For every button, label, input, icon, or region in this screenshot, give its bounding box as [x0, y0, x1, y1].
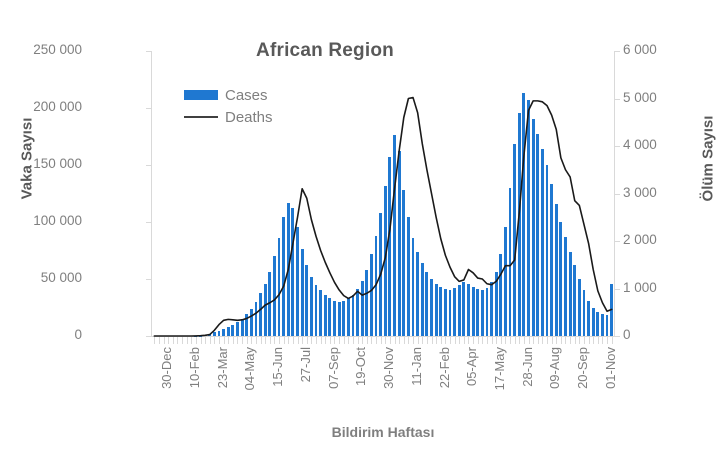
deaths-line [154, 98, 611, 336]
x-axis-tick-label: 27-Jul [298, 347, 313, 382]
y-axis-left-tick [146, 108, 151, 109]
x-axis-tick [519, 337, 520, 344]
x-axis-tick [210, 337, 211, 344]
legend-item-deaths: Deaths [184, 106, 273, 128]
x-axis-tick [538, 337, 539, 344]
y-axis-left-tick [146, 336, 151, 337]
x-axis-tick [164, 337, 165, 344]
x-axis-tick [187, 337, 188, 344]
x-axis-tick [478, 337, 479, 344]
x-axis-tick [385, 337, 386, 344]
x-axis-tick [561, 337, 562, 344]
x-axis-tick [261, 337, 262, 344]
y-axis-right-tick [615, 336, 620, 337]
x-axis-tick [233, 337, 234, 344]
x-axis-tick-label: 11-Jan [409, 347, 424, 386]
x-axis-tick [408, 337, 409, 344]
x-axis-tick [362, 337, 363, 344]
y-axis-right-tick [615, 99, 620, 100]
deaths-swatch-icon [184, 116, 218, 118]
x-axis-tick [529, 337, 530, 344]
x-axis-tick [450, 337, 451, 344]
x-axis-tick [399, 337, 400, 344]
x-axis-tick [311, 337, 312, 344]
x-axis-tick-label: 17-May [492, 347, 507, 390]
y-axis-right-tick [615, 289, 620, 290]
x-axis-tick [376, 337, 377, 344]
x-axis-tick-label: 09-Aug [547, 347, 562, 389]
x-axis-tick [505, 337, 506, 344]
x-axis-tick [214, 337, 215, 344]
legend-label-cases: Cases [225, 87, 268, 104]
x-axis-tick [598, 337, 599, 344]
x-axis-tick [436, 337, 437, 344]
x-axis-tick-label: 07-Sep [326, 347, 341, 389]
x-axis-tick [325, 337, 326, 344]
x-axis-tick-label: 01-Nov [603, 347, 618, 389]
x-axis-tick [602, 337, 603, 344]
x-axis-tick [589, 337, 590, 344]
y-axis-right-tick-label: 0 [623, 327, 631, 342]
x-axis-tick [612, 337, 613, 344]
x-axis-title: Bildirim Haftası [152, 424, 614, 440]
y-axis-left-tick [146, 279, 151, 280]
y-axis-right-tick-label: 1 000 [623, 280, 657, 295]
x-axis-tick [565, 337, 566, 344]
x-axis-tick [432, 337, 433, 344]
x-axis-tick [593, 337, 594, 344]
x-axis-tick [459, 337, 460, 344]
y-axis-left-tick-label: 200 000 [33, 99, 82, 114]
y-axis-right-tick-label: 4 000 [623, 137, 657, 152]
x-axis-tick [404, 337, 405, 344]
x-axis-tick [205, 337, 206, 344]
y-axis-left-tick [146, 51, 151, 52]
x-axis-tick-label: 30-Nov [381, 347, 396, 389]
x-axis-tick [256, 337, 257, 344]
x-axis-tick-label: 19-Oct [353, 347, 368, 386]
x-axis-tick [455, 337, 456, 344]
y-axis-right-tick [615, 146, 620, 147]
x-axis-tick-label: 23-Mar [215, 347, 230, 388]
x-axis-tick [464, 337, 465, 344]
x-axis-tick [353, 337, 354, 344]
x-axis-tick [395, 337, 396, 344]
chart-legend: Cases Deaths [184, 84, 273, 128]
x-axis-tick [274, 337, 275, 344]
y-axis-left-tick-label: 250 000 [33, 42, 82, 57]
x-axis-tick [413, 337, 414, 344]
x-axis-tick [159, 337, 160, 344]
y-axis-right-tick-label: 2 000 [623, 232, 657, 247]
x-axis-tick-label: 04-May [242, 347, 257, 390]
y-axis-right-tick-label: 6 000 [623, 42, 657, 57]
x-axis-tick [298, 337, 299, 344]
x-axis-tick [293, 337, 294, 344]
x-axis-tick [492, 337, 493, 344]
y-axis-right-tick [615, 51, 620, 52]
x-axis-tick [510, 337, 511, 344]
x-axis-tick [381, 337, 382, 344]
x-axis-tick [441, 337, 442, 344]
y-axis-left-tick-label: 50 000 [41, 270, 82, 285]
x-axis-tick [279, 337, 280, 344]
y-axis-right-tick [615, 241, 620, 242]
x-axis-tick [473, 337, 474, 344]
x-axis-tick [316, 337, 317, 344]
x-axis-tick [533, 337, 534, 344]
x-axis-tick [339, 337, 340, 344]
x-axis-tick [418, 337, 419, 344]
x-axis-tick [237, 337, 238, 344]
x-axis-tick-label: 10-Feb [187, 347, 202, 388]
x-axis-tick [302, 337, 303, 344]
x-axis-tick [284, 337, 285, 344]
x-axis-tick [173, 337, 174, 344]
legend-item-cases: Cases [184, 84, 273, 106]
y-axis-left-tick-label: 100 000 [33, 213, 82, 228]
x-axis-tick [201, 337, 202, 344]
x-axis-tick [219, 337, 220, 344]
x-axis-tick [422, 337, 423, 344]
x-axis-tick [251, 337, 252, 344]
x-axis-tick [196, 337, 197, 344]
legend-label-deaths: Deaths [225, 109, 273, 126]
x-axis-tick [321, 337, 322, 344]
x-axis-tick-label: 05-Apr [464, 347, 479, 386]
x-axis-tick [575, 337, 576, 344]
x-axis-tick [367, 337, 368, 344]
x-axis-tick [358, 337, 359, 344]
x-axis-tick [228, 337, 229, 344]
x-axis-tick-label: 20-Sep [575, 347, 590, 389]
x-axis-tick [371, 337, 372, 344]
x-axis-tick [182, 337, 183, 344]
x-axis-tick [482, 337, 483, 344]
x-axis-tick-label: 30-Dec [159, 347, 174, 389]
x-axis-tick [288, 337, 289, 344]
x-axis-tick [168, 337, 169, 344]
y-axis-left-tick-label: 150 000 [33, 156, 82, 171]
chart-container: African Region Vaka Sayısı Ölüm Sayısı B… [0, 0, 728, 450]
x-axis-tick [427, 337, 428, 344]
x-axis-tick [265, 337, 266, 344]
x-axis-tick [468, 337, 469, 344]
x-axis-tick [191, 337, 192, 344]
x-axis-tick [154, 337, 155, 344]
y-axis-left-tick [146, 165, 151, 166]
x-axis-tick [330, 337, 331, 344]
x-axis-tick [344, 337, 345, 344]
x-axis-tick [607, 337, 608, 344]
x-axis-tick [487, 337, 488, 344]
y-axis-left-tick [146, 222, 151, 223]
x-axis-tick [307, 337, 308, 344]
x-axis-tick-label: 15-Jun [270, 347, 285, 387]
x-axis-tick [247, 337, 248, 344]
x-axis-tick [242, 337, 243, 344]
y-axis-right-tick-label: 3 000 [623, 185, 657, 200]
y-axis-right-tick [615, 194, 620, 195]
x-axis-tick [445, 337, 446, 344]
x-axis-tick [570, 337, 571, 344]
x-axis-tick [501, 337, 502, 344]
x-axis-tick [542, 337, 543, 344]
cases-swatch-icon [184, 90, 218, 100]
x-axis-tick [348, 337, 349, 344]
x-axis-line [151, 336, 615, 337]
x-axis-tick [270, 337, 271, 344]
x-axis-tick [496, 337, 497, 344]
y-axis-right-tick-label: 5 000 [623, 90, 657, 105]
x-axis-tick [556, 337, 557, 344]
x-axis-tick [552, 337, 553, 344]
y-axis-left-tick-label: 0 [74, 327, 82, 342]
x-axis-tick [547, 337, 548, 344]
x-axis-tick [524, 337, 525, 344]
x-axis-tick [177, 337, 178, 344]
x-axis-tick [579, 337, 580, 344]
x-axis-tick-label: 28-Jun [520, 347, 535, 387]
x-axis-tick [390, 337, 391, 344]
y-axis-right-title: Ölüm Sayısı [700, 74, 717, 244]
x-axis-tick-label: 22-Feb [437, 347, 452, 388]
x-axis-tick [584, 337, 585, 344]
x-axis-tick [334, 337, 335, 344]
x-axis-tick [515, 337, 516, 344]
x-axis-tick [224, 337, 225, 344]
